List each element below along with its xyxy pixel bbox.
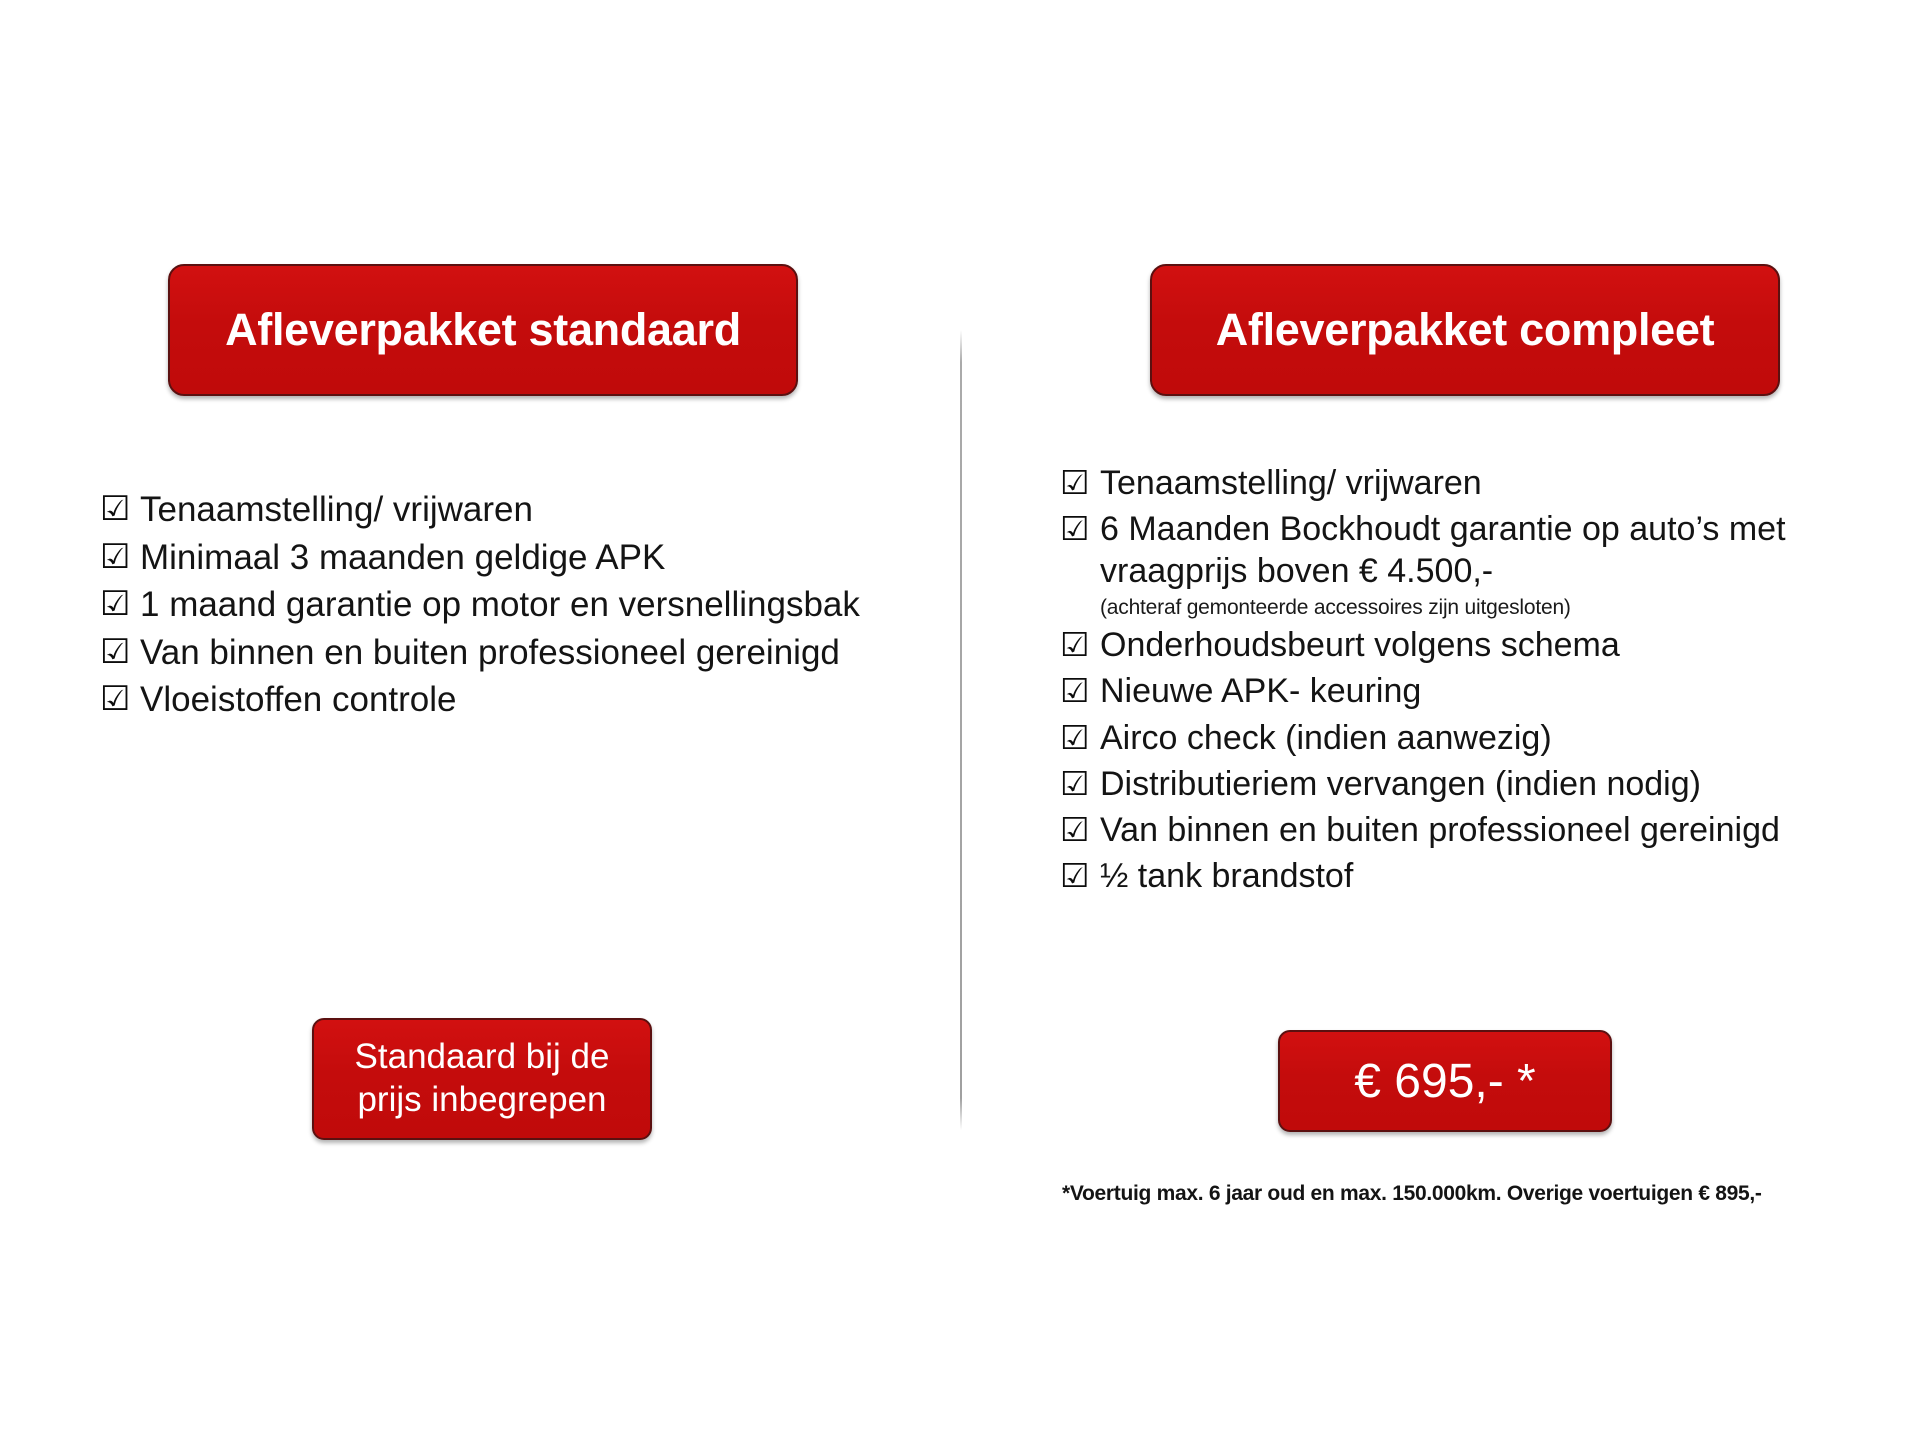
checkbox-checked-icon: ☑ [100,631,132,675]
package-column-complete: Afleverpakket compleet ☑ Tenaamstelling/… [960,0,1920,1440]
list-item: ☑ 1 maand garantie op motor en versnelli… [100,583,860,627]
feature-list-standard: ☑ Tenaamstelling/ vrijwaren ☑ Minimaal 3… [100,488,860,726]
checkbox-checked-icon: ☑ [1060,508,1092,550]
list-item: ☑ Nieuwe APK- keuring [1060,670,1860,712]
checkbox-checked-icon: ☑ [1060,624,1092,666]
feature-label: Van binnen en buiten professioneel gerei… [140,631,860,674]
checkbox-checked-icon: ☑ [1060,809,1092,851]
feature-label: Nieuwe APK- keuring [1100,670,1860,712]
list-item: ☑ Tenaamstelling/ vrijwaren [100,488,860,532]
feature-label: Van binnen en buiten professioneel gerei… [1100,809,1860,851]
checkbox-checked-icon: ☑ [1060,763,1092,805]
checkbox-checked-icon: ☑ [1060,670,1092,712]
checkbox-checked-icon: ☑ [100,488,132,532]
feature-label: Distributieriem vervangen (indien nodig) [1100,763,1860,805]
list-item: ☑ ½ tank brandstof [1060,855,1860,897]
list-item: ☑ Van binnen en buiten professioneel ger… [1060,809,1860,851]
list-item: ☑ Minimaal 3 maanden geldige APK [100,536,860,580]
checkbox-checked-icon: ☑ [100,583,132,627]
feature-sub-note: (achteraf gemonteerde accessoires zijn u… [1100,595,1860,621]
feature-label: Vloeistoffen controle [140,678,860,721]
checkbox-checked-icon: ☑ [1060,717,1092,759]
feature-label: 6 Maanden Bockhoudt garantie op auto’s m… [1100,508,1860,620]
list-item: ☑ Van binnen en buiten professioneel ger… [100,631,860,675]
list-item: ☑ Airco check (indien aanwezig) [1060,717,1860,759]
list-item: ☑ 6 Maanden Bockhoudt garantie op auto’s… [1060,508,1860,620]
feature-label: Onderhoudsbeurt volgens schema [1100,624,1860,666]
checkbox-checked-icon: ☑ [100,678,132,722]
list-item: ☑ Vloeistoffen controle [100,678,860,722]
price-footnote: *Voertuig max. 6 jaar oud en max. 150.00… [1062,1182,1882,1206]
feature-label: 1 maand garantie op motor en versnelling… [140,583,860,626]
checkbox-checked-icon: ☑ [100,536,132,580]
feature-label: Airco check (indien aanwezig) [1100,717,1860,759]
package-column-standard: Afleverpakket standaard ☑ Tenaamstelling… [0,0,960,1440]
feature-label: ½ tank brandstof [1100,855,1860,897]
price-badge-standard: Standaard bij de prijs inbegrepen [312,1018,652,1140]
feature-label: Minimaal 3 maanden geldige APK [140,536,860,579]
checkbox-checked-icon: ☑ [1060,462,1092,504]
package-title-complete: Afleverpakket compleet [1150,264,1780,396]
feature-main-text: 6 Maanden Bockhoudt garantie op auto’s m… [1100,510,1786,590]
package-title-standard: Afleverpakket standaard [168,264,798,396]
slide-canvas: Afleverpakket standaard ☑ Tenaamstelling… [0,0,1920,1440]
checkbox-checked-icon: ☑ [1060,855,1092,897]
price-badge-complete: € 695,- * [1278,1030,1612,1132]
list-item: ☑ Distributieriem vervangen (indien nodi… [1060,763,1860,805]
list-item: ☑ Onderhoudsbeurt volgens schema [1060,624,1860,666]
feature-label: Tenaamstelling/ vrijwaren [140,488,860,531]
feature-label: Tenaamstelling/ vrijwaren [1100,462,1860,504]
list-item: ☑ Tenaamstelling/ vrijwaren [1060,462,1860,504]
feature-list-complete: ☑ Tenaamstelling/ vrijwaren ☑ 6 Maanden … [1060,462,1860,902]
